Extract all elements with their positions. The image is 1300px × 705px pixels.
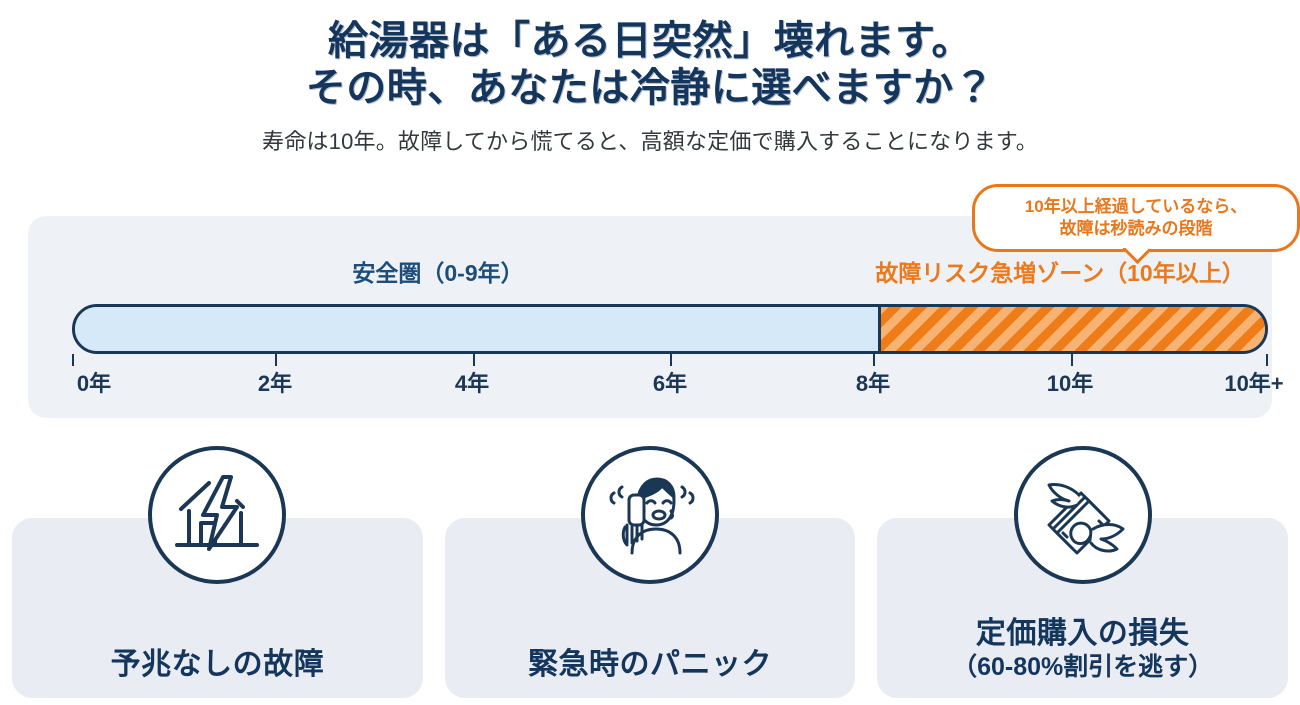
- zone-label-safe: 安全圏（0-9年）: [28, 254, 848, 288]
- risk-callout-line-2: 故障は秒読みの段階: [981, 218, 1291, 240]
- bar-segment-risk-hatched: [878, 307, 1265, 351]
- axis-tick-label-0: 0年: [77, 366, 111, 398]
- axis-tick-label-10plus: 10年+: [1224, 366, 1283, 398]
- lifespan-timeline-panel: 10年以上経過しているなら、 故障は秒読みの段階 安全圏（0-9年） 故障リスク…: [28, 216, 1272, 418]
- risk-callout-bubble: 10年以上経過しているなら、 故障は秒読みの段階: [972, 184, 1300, 252]
- risk-card-subtitle: （60-80%割引を逃す）: [952, 652, 1213, 682]
- risk-card-retail-price-loss: 定価購入の損失 （60-80%割引を逃す）: [877, 518, 1288, 698]
- risk-card-title: 予兆なしの故障: [111, 647, 325, 682]
- money-with-wings-icon: [1014, 446, 1152, 584]
- axis-tick-label-8: 8年: [856, 366, 890, 398]
- headline-line-2: その時、あなたは冷静に選べますか？: [0, 65, 1300, 112]
- risk-callout-line-1: 10年以上経過しているなら、: [981, 196, 1291, 218]
- axis-tick: [275, 354, 277, 366]
- headline-line-1: 給湯器は「ある日突然」壊れます。: [0, 18, 1300, 65]
- bar-segment-safe: [75, 307, 878, 351]
- bar-track: [72, 304, 1268, 354]
- lifespan-bar: [72, 304, 1268, 354]
- axis-tick: [473, 354, 475, 366]
- subheadline: 寿命は10年。故障してから慌てると、高額な定価で購入することになります。: [0, 124, 1300, 156]
- page-title: 給湯器は「ある日突然」壊れます。 その時、あなたは冷静に選べますか？: [0, 0, 1300, 112]
- risk-card-sudden-failure: 予兆なしの故障: [12, 518, 423, 698]
- axis-tick: [670, 354, 672, 366]
- axis-tick: [1266, 354, 1268, 366]
- axis-tick-label-10: 10年: [1047, 366, 1093, 398]
- axis-tick: [72, 354, 74, 366]
- axis-tick-label-2: 2年: [258, 366, 292, 398]
- risk-cards-row: 予兆なしの故障: [12, 518, 1288, 698]
- zone-label-risk: 故障リスク急増ゾーン（10年以上）: [848, 254, 1272, 288]
- axis-tick: [873, 354, 875, 366]
- zone-label-row: 安全圏（0-9年） 故障リスク急増ゾーン（10年以上）: [28, 254, 1272, 284]
- axis-tick-label-4: 4年: [455, 366, 489, 398]
- axis-tick: [1071, 354, 1073, 366]
- panicked-person-phone-icon: [581, 446, 719, 584]
- axis-tick-label-row: 0年 2年 4年 6年 8年 10年 10年+: [48, 366, 1292, 396]
- risk-card-title: 定価購入の損失: [976, 616, 1190, 651]
- axis-tick-label-6: 6年: [653, 366, 687, 398]
- house-lightning-icon: [148, 446, 286, 584]
- risk-card-emergency-panic: 緊急時のパニック: [445, 518, 856, 698]
- risk-card-title: 緊急時のパニック: [528, 647, 772, 682]
